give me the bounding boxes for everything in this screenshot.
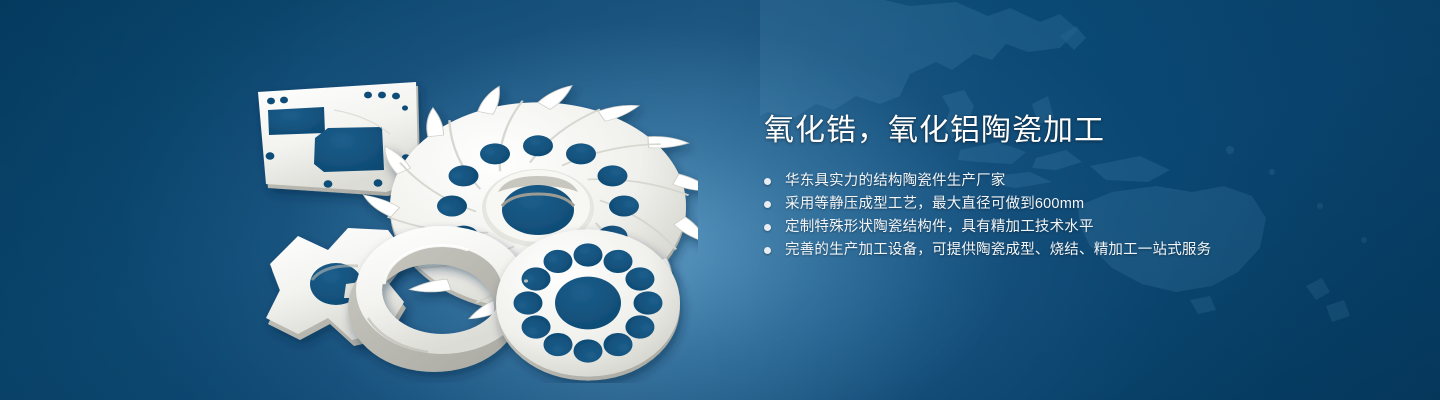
- list-item: 华东具实力的结构陶瓷件生产厂家: [764, 170, 1384, 193]
- feature-text: 完善的生产加工设备，可提供陶瓷成型、烧结、精加工一站式服务: [785, 239, 1211, 262]
- bullet-dot-icon: [764, 224, 771, 231]
- feature-text: 华东具实力的结构陶瓷件生产厂家: [785, 170, 1006, 193]
- ceramic-perforated-disc: [496, 229, 680, 380]
- list-item: 采用等静压成型工艺，最大直径可做到600mm: [764, 193, 1384, 216]
- feature-list: 华东具实力的结构陶瓷件生产厂家 采用等静压成型工艺，最大直径可做到600mm 定…: [764, 170, 1384, 262]
- feature-text: 定制特殊形状陶瓷结构件，具有精加工技术水平: [785, 216, 1094, 239]
- banner-headline: 氧化锆，氧化铝陶瓷加工: [764, 110, 1384, 152]
- list-item: 定制特殊形状陶瓷结构件，具有精加工技术水平: [764, 216, 1384, 239]
- bullet-dot-icon: [764, 201, 771, 208]
- hero-banner: 氧化锆，氧化铝陶瓷加工 华东具实力的结构陶瓷件生产厂家 采用等静压成型工艺，最大…: [0, 0, 1440, 400]
- list-item: 完善的生产加工设备，可提供陶瓷成型、烧结、精加工一站式服务: [764, 239, 1384, 262]
- bullet-dot-icon: [764, 178, 771, 185]
- bullet-dot-icon: [764, 247, 771, 254]
- product-photo-collage: [238, 38, 698, 383]
- feature-text: 采用等静压成型工艺，最大直径可做到600mm: [785, 193, 1084, 216]
- banner-copy: 氧化锆，氧化铝陶瓷加工 华东具实力的结构陶瓷件生产厂家 采用等静压成型工艺，最大…: [764, 110, 1384, 262]
